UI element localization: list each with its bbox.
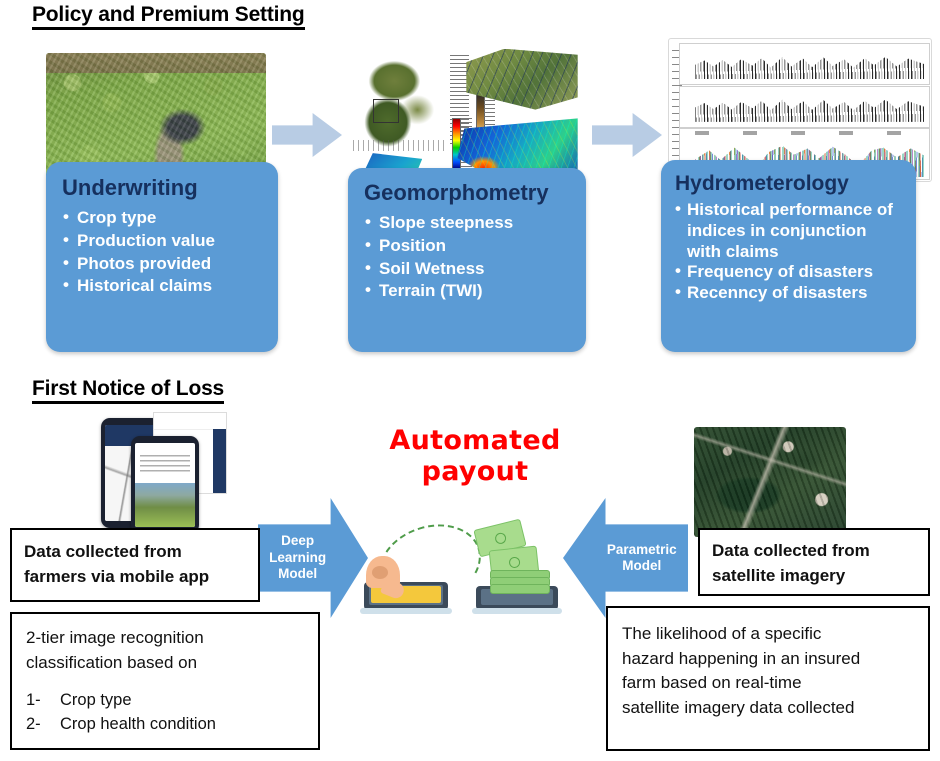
list-item: Recenncy of disasters bbox=[675, 283, 902, 304]
item-label: Crop health condition bbox=[60, 713, 216, 737]
cash-stack bbox=[490, 570, 548, 594]
list-item: Photos provided bbox=[62, 253, 262, 276]
hazard-line3: farm based on real-time bbox=[622, 671, 914, 696]
hazard-line4: satellite imagery data collected bbox=[622, 696, 914, 721]
payout-title-line1: Automated bbox=[385, 425, 565, 456]
classification-list: 1- Crop type 2- Crop health condition bbox=[26, 689, 304, 737]
card-hydrometerology-title: Hydrometerology bbox=[675, 172, 902, 195]
card-geomorphometry-list: Slope steepness Position Soil Wetness Te… bbox=[364, 212, 570, 303]
mobile-data-textbox: Data collected from farmers via mobile a… bbox=[10, 528, 260, 602]
card-hydrometerology-list: Historical performance of indices in con… bbox=[675, 200, 902, 304]
list-item: Slope steepness bbox=[364, 212, 570, 235]
list-item: Historical claims bbox=[62, 275, 262, 298]
card-geomorphometry: Geomorphometry Slope steepness Position … bbox=[348, 168, 586, 352]
arrow-deep-learning-model: Deep Learning Model bbox=[258, 498, 368, 618]
mobile-data-line1: Data collected from bbox=[24, 540, 246, 565]
arrow-parametric-model: Parametric Model bbox=[563, 498, 688, 618]
section-heading-policy-premium: Policy and Premium Setting bbox=[32, 4, 305, 30]
mobile-app-phones-mockup bbox=[95, 410, 230, 535]
payout-title-line2: payout bbox=[385, 456, 565, 487]
list-item: Terrain (TWI) bbox=[364, 280, 570, 303]
list-item: Crop type bbox=[62, 207, 262, 230]
item-label: Crop type bbox=[60, 689, 132, 713]
hazard-line2: hazard happening in an insured bbox=[622, 647, 914, 672]
terrain-elevation-maps-image bbox=[348, 40, 580, 185]
satellite-data-textbox: Data collected from satellite imagery bbox=[698, 528, 930, 596]
list-item: Historical performance of indices in con… bbox=[675, 200, 902, 262]
item-number: 1- bbox=[26, 689, 60, 713]
satellite-data-line2: satellite imagery bbox=[712, 564, 916, 589]
arrow-underwriting-to-geomorphometry bbox=[272, 113, 342, 157]
satellite-data-line1: Data collected from bbox=[712, 539, 916, 564]
arrow-geomorphometry-to-hydrometerology bbox=[592, 113, 662, 157]
satellite-aerial-imagery-photo bbox=[694, 427, 846, 537]
mobile-data-line2: farmers via mobile app bbox=[24, 565, 246, 590]
card-underwriting-title: Underwriting bbox=[62, 176, 262, 200]
classification-textbox: 2-tier image recognition classification … bbox=[10, 612, 320, 750]
parametric-model-label: Parametric Model bbox=[601, 542, 684, 575]
classification-line2: classification based on bbox=[26, 651, 304, 676]
item-number: 2- bbox=[26, 713, 60, 737]
list-item: 1- Crop type bbox=[26, 689, 304, 713]
hand-tapping-icon bbox=[366, 556, 400, 588]
hazard-likelihood-textbox: The likelihood of a specific hazard happ… bbox=[606, 606, 930, 751]
card-underwriting-list: Crop type Production value Photos provid… bbox=[62, 207, 262, 298]
section-heading-first-notice-of-loss: First Notice of Loss bbox=[32, 378, 224, 404]
card-geomorphometry-title: Geomorphometry bbox=[364, 181, 570, 205]
list-item: Production value bbox=[62, 230, 262, 253]
classification-line1: 2-tier image recognition bbox=[26, 626, 304, 651]
list-item: Position bbox=[364, 235, 570, 258]
list-item: 2- Crop health condition bbox=[26, 713, 304, 737]
list-item: Frequency of disasters bbox=[675, 262, 902, 283]
card-hydrometerology: Hydrometerology Historical performance o… bbox=[661, 160, 916, 352]
tablet-cash-payout-illustration bbox=[358, 520, 573, 620]
automated-payout-title: Automated payout bbox=[385, 425, 565, 488]
list-item: Soil Wetness bbox=[364, 258, 570, 281]
deep-learning-model-label: Deep Learning Model bbox=[260, 533, 335, 582]
hazard-line1: The likelihood of a specific bbox=[622, 622, 914, 647]
card-underwriting: Underwriting Crop type Production value … bbox=[46, 162, 278, 352]
